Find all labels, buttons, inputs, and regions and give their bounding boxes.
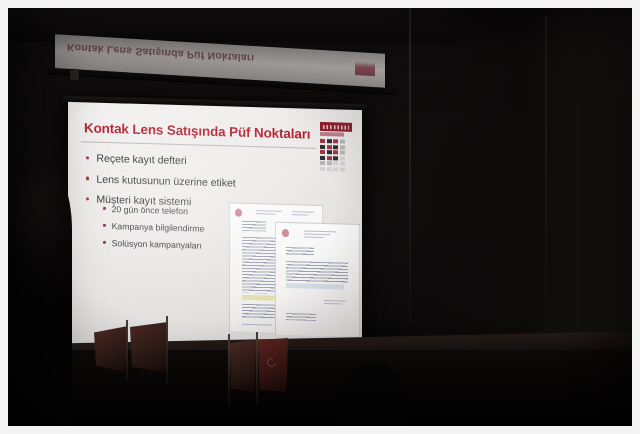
desk-flag-1 [94,326,128,372]
scanned-letter-back [275,222,360,338]
logo-banner [320,122,352,132]
desk-flag-pole-4 [256,332,258,406]
presentation-slide: Kontak Lens Satışında Püf Noktaları [68,102,362,366]
photo-frame: Kontak Lens Satışında Püf Noktaları Kont… [0,0,640,434]
bullet-dot-icon [86,156,89,159]
letter-crest-icon [235,209,242,217]
bullet-dot-icon [86,177,89,180]
audience-silhouette-left [8,160,72,426]
bullet-item: Lens kutusunun üzerine etiket [86,173,266,190]
bullet-dot-icon [86,197,89,200]
title-underline-rule [81,141,316,149]
projection-screen: Kontak Lens Satışında Püf Noktaları [63,96,367,370]
corporate-logo [320,122,352,171]
photograph: Kontak Lens Satışında Püf Noktaları Kont… [8,8,632,426]
slide-title: Kontak Lens Satışında Püf Noktaları [84,120,310,141]
letter-crest-icon [282,229,289,237]
sub-bullet-label: Kampanya bilgilendirme [112,221,205,234]
ceiling-fixture-icon [70,70,79,80]
sub-bullet-dot-icon [103,224,106,227]
desk-flag-pole-3 [228,334,230,406]
sub-bullet-label: 20 gün önce telefon [112,204,188,216]
logo-square-grid [320,139,352,171]
bullet-label: Reçete kayıt defteri [96,153,186,168]
desk-flag-pole-1 [126,320,128,382]
sub-bullet-dot-icon [103,241,106,244]
desk-flag-3 [230,340,256,392]
bullet-label: Lens kutusunun üzerine etiket [96,173,235,189]
wall-corner-edge [409,8,411,326]
sub-bullet-label: Solüsyon kampanyaları [112,238,202,251]
desk-flag-4 [258,338,288,392]
crescent-icon [265,356,277,368]
audience-silhouette-right [338,364,408,426]
bullet-item: Reçete kayıt defteri [86,152,266,169]
desk-flag-pole-2 [166,316,168,384]
sub-bullet-dot-icon [103,207,106,210]
company-logo-reflection-icon [355,61,375,76]
logo-subtitle-bar [320,132,344,137]
desk-flag-2 [130,322,168,372]
letter-highlight [286,283,344,290]
door-frame-edge [545,16,547,375]
